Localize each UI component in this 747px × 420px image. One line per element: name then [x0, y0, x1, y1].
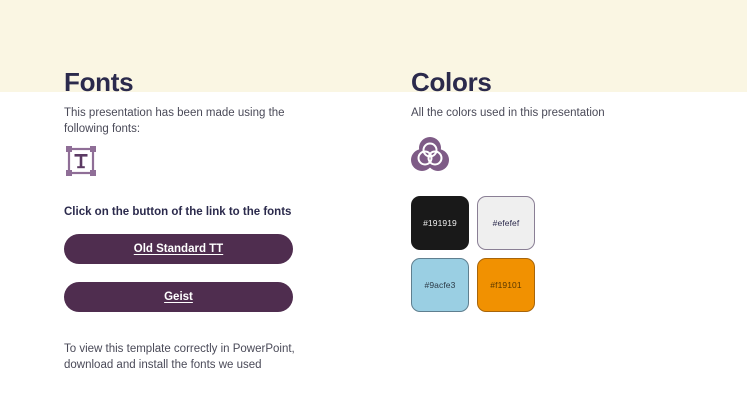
color-swatch-9acfe3[interactable]: #9acfe3: [411, 258, 469, 312]
color-circles-icon: [411, 136, 449, 172]
fonts-section-title: Fonts: [64, 69, 133, 95]
font-link-geist[interactable]: Geist: [64, 282, 293, 312]
color-swatch-efefef[interactable]: #efefef: [477, 196, 535, 250]
fonts-intro-text: This presentation has been made using th…: [64, 106, 314, 137]
colors-section-title: Colors: [411, 69, 492, 95]
text-tool-icon: [64, 144, 98, 178]
color-swatch-191919[interactable]: #191919: [411, 196, 469, 250]
color-swatch-f19101[interactable]: #f19101: [477, 258, 535, 312]
color-swatch-grid: #191919 #efefef #9acfe3 #f19101: [411, 196, 535, 312]
colors-intro-text: All the colors used in this presentation: [411, 106, 671, 122]
fonts-footnote-text: To view this template correctly in Power…: [64, 342, 324, 373]
font-link-old-standard-tt[interactable]: Old Standard TT: [64, 234, 293, 264]
fonts-cta-heading: Click on the button of the link to the f…: [64, 206, 291, 218]
